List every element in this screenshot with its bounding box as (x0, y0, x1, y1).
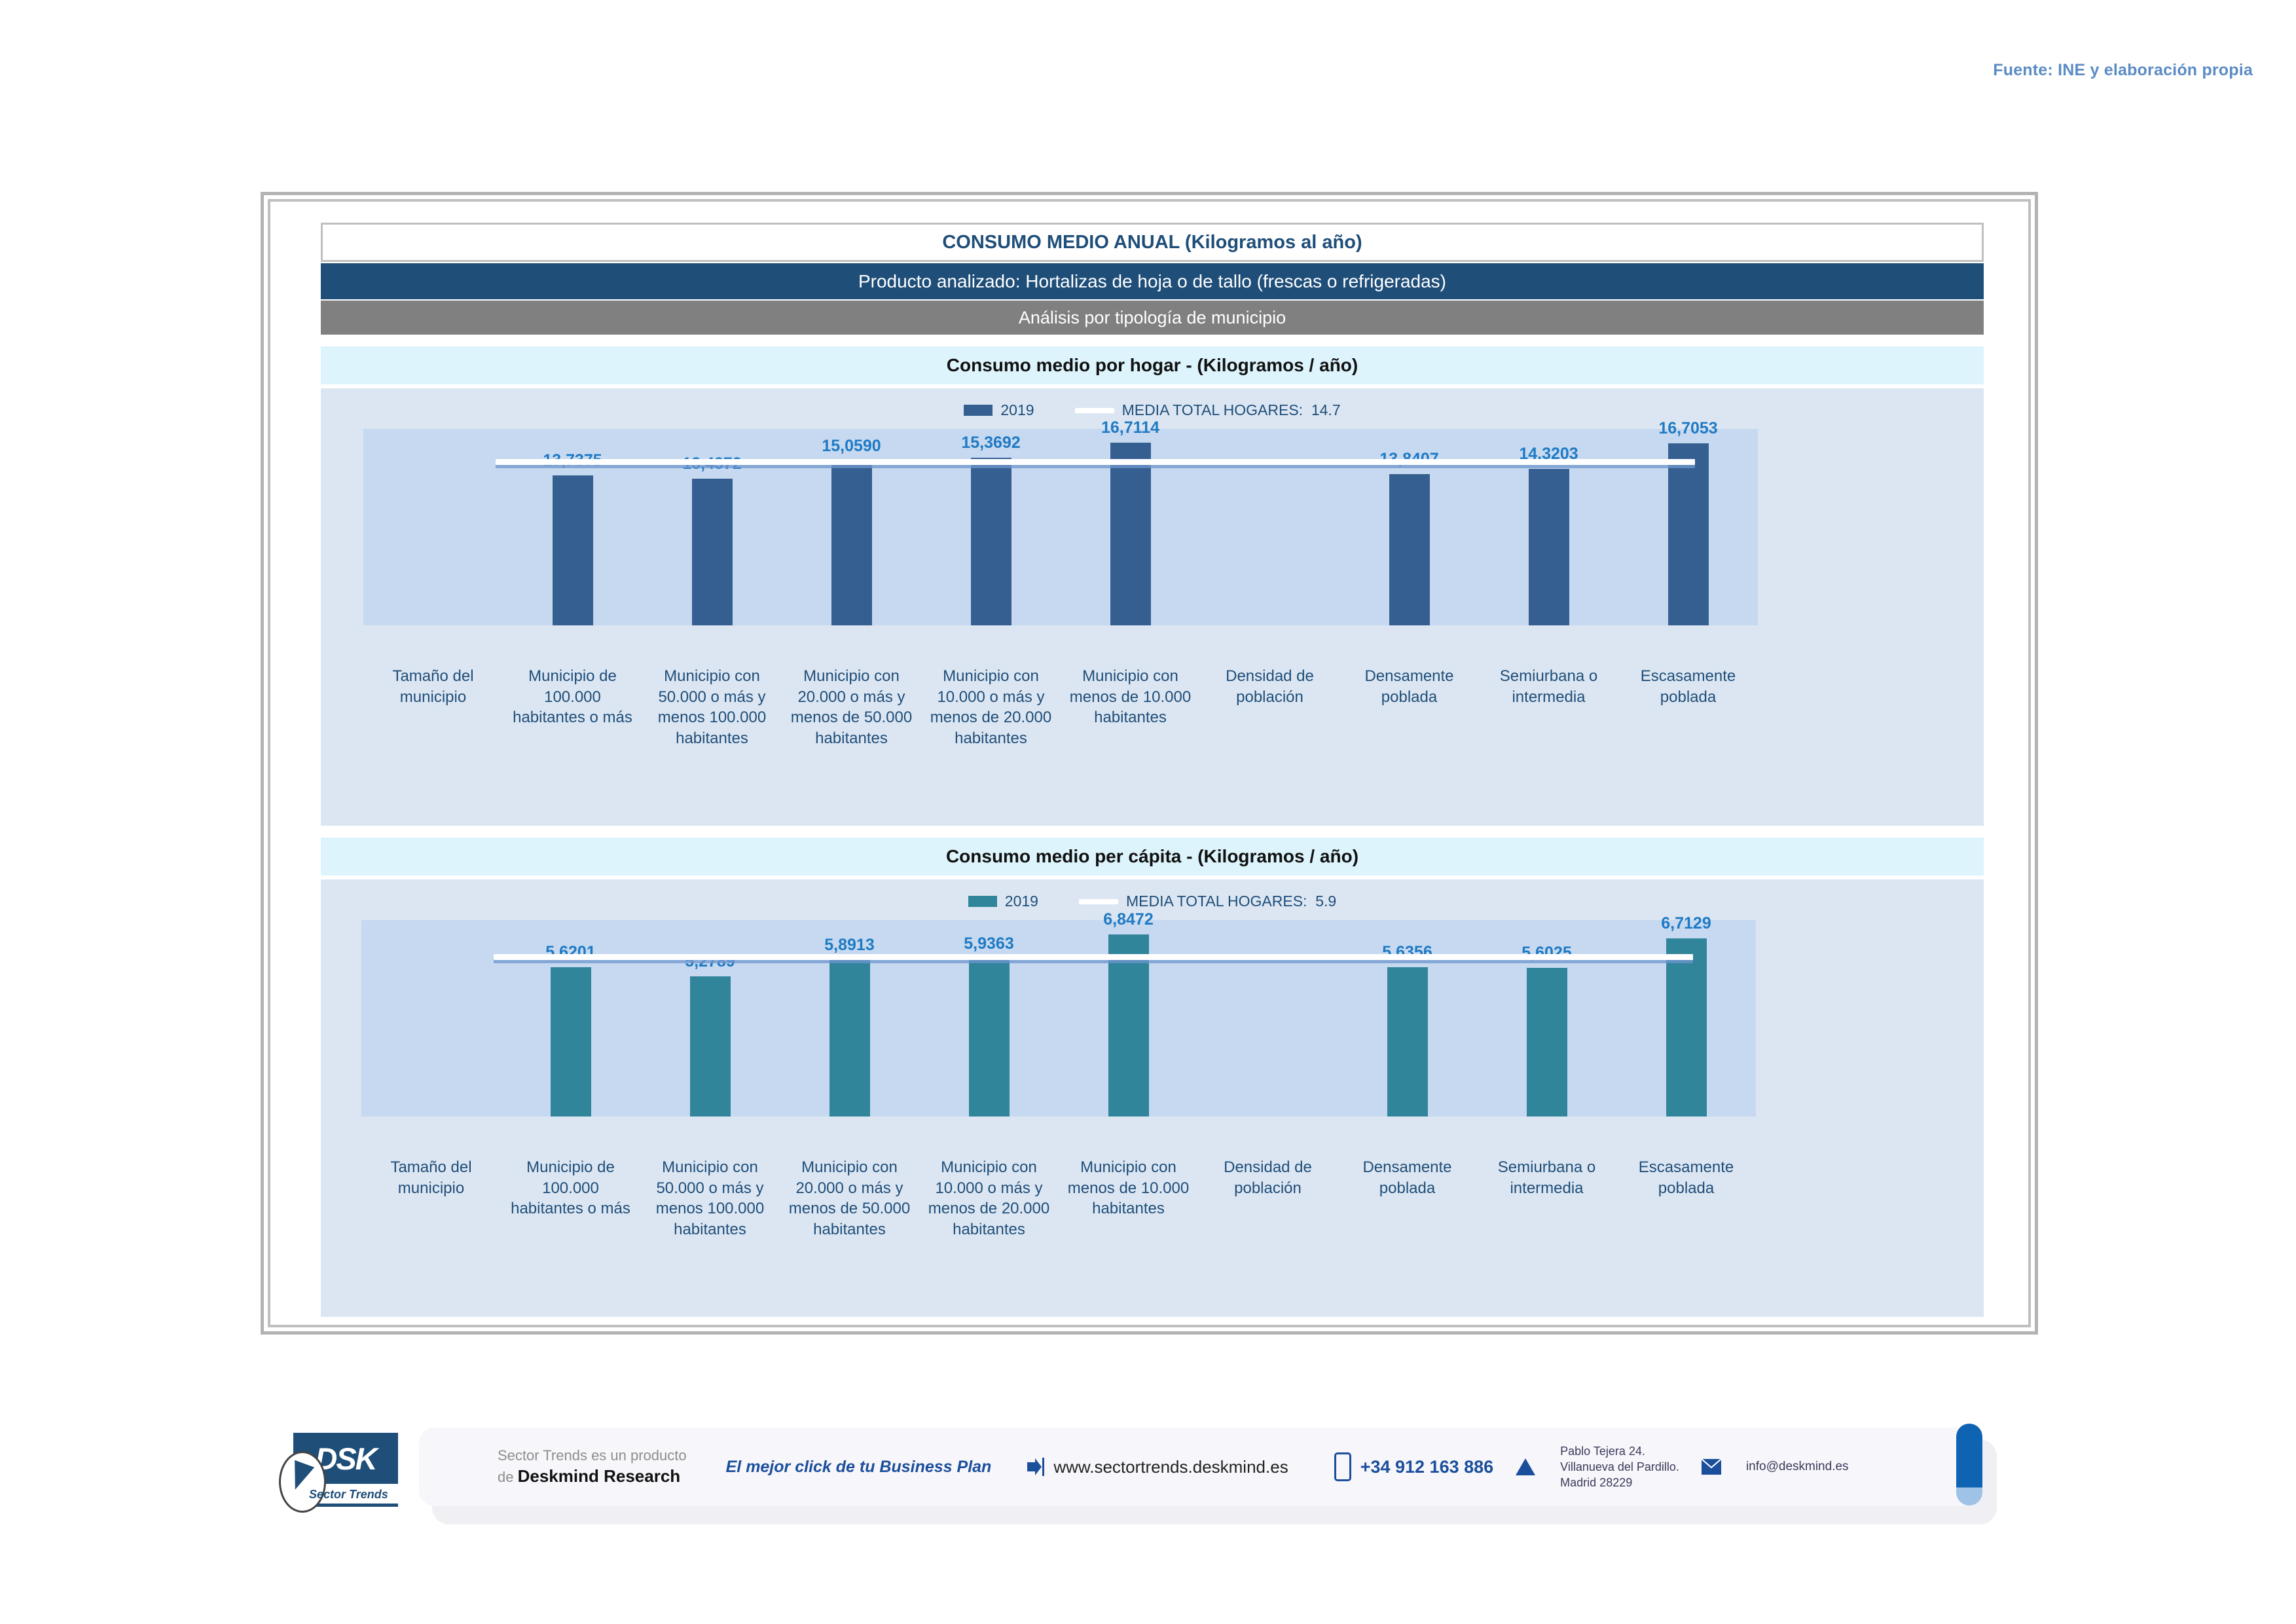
x-axis-label-line: menos de 10.000 (1061, 1178, 1195, 1199)
footer-address-text: Pablo Tejera 24. Villanueva del Pardillo… (1560, 1443, 1679, 1491)
bar: 15,0590 (831, 461, 872, 625)
x-axis-label-line: poblada (1342, 687, 1476, 708)
x-axis-label-line: Municipio con (922, 1157, 1056, 1178)
bar-cell: 15,0590 (782, 429, 921, 625)
x-axis-label-line: menos de 10.000 (1063, 687, 1197, 708)
x-axis-label-line: Densamente (1340, 1157, 1474, 1178)
legend-item-series: 2019 (968, 893, 1038, 910)
bar-cell: 13,7375 (503, 429, 642, 625)
bar-cell (1200, 429, 1339, 625)
x-axis-label: Municipio con50.000 o más ymenos 100.000… (642, 666, 782, 749)
x-axis-label-line: menos de 50.000 (784, 707, 919, 728)
bar-cell: 5,9363 (919, 920, 1059, 1116)
legend-label-mean: MEDIA TOTAL HOGARES: 5.9 (1126, 893, 1336, 910)
bar: 16,7053 (1668, 443, 1709, 625)
footer-claim: El mejor click de tu Business Plan (726, 1458, 992, 1477)
x-axis-label-line: Municipio con (784, 666, 919, 687)
legend-label-2019: 2019 (1000, 401, 1034, 419)
x-axis-label: Municipio con10.000 o más ymenos de 20.0… (919, 1157, 1059, 1240)
bar-value-label: 15,0590 (822, 437, 881, 456)
logo-subtitle: Sector Trends (309, 1488, 388, 1502)
x-axis-label-line: 100.000 (503, 1178, 638, 1199)
x-axis-label: Semiurbana ointermedia (1477, 1157, 1616, 1240)
x-axis-label: Densidad depoblación (1200, 666, 1339, 749)
x-axis-label: Tamaño delmunicipio (363, 666, 503, 749)
x-axis-label: Escasamentepoblada (1616, 1157, 1756, 1240)
x-axis-label-line: Municipio con (1061, 1157, 1195, 1178)
footer-accent-bar (1956, 1424, 1982, 1505)
x-axis-label: Municipio conmenos de 10.000habitantes (1061, 666, 1200, 749)
footer-card: DSK Sector Trends Sector Trends es un pr… (419, 1428, 1977, 1506)
legend-swatch-2019 (968, 896, 997, 907)
legend-item-series: 2019 (964, 401, 1034, 419)
x-axis-label-line: Tamaño del (366, 666, 500, 687)
bar: 5,9363 (969, 959, 1010, 1116)
bar: 15,3692 (971, 458, 1011, 625)
x-axis-label: Semiurbana ointermedia (1479, 666, 1618, 749)
x-axis-label-line: habitantes (643, 1219, 777, 1240)
bar: 5,6356 (1387, 967, 1428, 1116)
bar-cell: 5,8913 (780, 920, 919, 1116)
analysis-bar: Análisis por tipología de municipio (321, 301, 1984, 335)
x-axis-label-line: Municipio con (924, 666, 1058, 687)
mail-icon (1702, 1459, 1721, 1475)
chart-hogar-plot: 13,737513,437215,059015,369216,711413,84… (363, 429, 1758, 625)
legend-item-mean: MEDIA TOTAL HOGARES: 14.7 (1075, 401, 1341, 419)
x-axis-label-line: 10.000 o más y (924, 687, 1058, 708)
chart-capita-bars: 5,62015,27895,89135,93636,84725,63565,60… (361, 920, 1756, 1116)
x-axis-label-line: habitantes (645, 728, 779, 749)
x-axis-label-line: habitantes (1063, 707, 1197, 728)
bar-cell: 6,7129 (1616, 920, 1756, 1116)
bar-value-label: 16,7053 (1658, 419, 1717, 438)
x-axis-label-line: poblada (1619, 1178, 1753, 1199)
address-line-3: Madrid 28229 (1560, 1475, 1679, 1490)
x-axis-label-line: 20.000 o más y (782, 1178, 917, 1199)
x-axis-label: Municipio de100.000habitantes o más (501, 1157, 640, 1240)
footer: DSK Sector Trends Sector Trends es un pr… (419, 1428, 1990, 1514)
x-axis-label-line: habitantes (922, 1219, 1056, 1240)
x-axis-label: Densidad depoblación (1198, 1157, 1338, 1240)
footer-phone[interactable]: +34 912 163 886 (1334, 1452, 1493, 1481)
footer-product-brand: Deskmind Research (518, 1466, 681, 1486)
x-axis-label-line: Densamente (1342, 666, 1476, 687)
x-axis-label-line: menos de 20.000 (924, 707, 1058, 728)
x-axis-label-line: municipio (364, 1178, 498, 1199)
bar-cell: 14,3203 (1479, 429, 1618, 625)
x-axis-label-line: Semiurbana o (1482, 666, 1616, 687)
chart-hogar-bars: 13,737513,437215,059015,369216,711413,84… (363, 429, 1758, 625)
footer-product-line2: de Deskmind Research (498, 1465, 687, 1488)
x-axis-label-line: Municipio de (503, 1157, 638, 1178)
x-axis-label-line: Densidad de (1201, 1157, 1335, 1178)
bar-cell: 13,4372 (642, 429, 782, 625)
x-axis-label-line: Semiurbana o (1480, 1157, 1614, 1178)
bar-value-label: 6,8472 (1103, 910, 1153, 929)
x-axis-label: Escasamentepoblada (1618, 666, 1758, 749)
legend-item-mean: MEDIA TOTAL HOGARES: 5.9 (1079, 893, 1336, 910)
x-axis-label-line: 100.000 (505, 687, 640, 708)
x-axis-label: Municipio con20.000 o más ymenos de 50.0… (782, 666, 921, 749)
x-axis-label: Municipio de100.000habitantes o más (503, 666, 642, 749)
bar: 6,7129 (1666, 938, 1707, 1116)
x-axis-label-line: habitantes o más (503, 1198, 638, 1219)
source-note: Fuente: INE y elaboración propia (1993, 61, 2253, 80)
bar: 13,8407 (1389, 474, 1430, 625)
x-axis-label-line: población (1203, 687, 1337, 708)
mean-label-text: MEDIA TOTAL HOGARES: (1126, 893, 1307, 910)
x-axis-label: Densamentepoblada (1339, 666, 1479, 749)
footer-product-note: Sector Trends es un producto de Deskmind… (498, 1446, 687, 1488)
bar-cell: 16,7114 (1061, 429, 1200, 625)
x-axis-label-line: municipio (366, 687, 500, 708)
x-axis-label-line: 50.000 o más y (645, 687, 779, 708)
x-axis-label: Tamaño delmunicipio (361, 1157, 501, 1240)
x-axis-label-line: habitantes (784, 728, 919, 749)
x-axis-label: Municipio con10.000 o más ymenos de 20.0… (921, 666, 1061, 749)
x-axis-label-line: habitantes o más (505, 707, 640, 728)
x-axis-label: Municipio con20.000 o más ymenos de 50.0… (780, 1157, 919, 1240)
chart-hogar-legend: 2019 MEDIA TOTAL HOGARES: 14.7 (321, 401, 1984, 419)
mean-value-text: 5.9 (1315, 893, 1336, 910)
x-axis-label-line: poblada (1621, 687, 1755, 708)
x-axis-label: Densamentepoblada (1338, 1157, 1477, 1240)
bar-cell: 5,6025 (1477, 920, 1616, 1116)
report-panel: CONSUMO MEDIO ANUAL (Kilogramos al año) … (321, 223, 1984, 1303)
chart-capita-plot: 5,62015,27895,89135,93636,84725,63565,60… (361, 920, 1756, 1116)
x-axis-label-line: 20.000 o más y (784, 687, 919, 708)
bar-value-label: 15,3692 (961, 434, 1020, 452)
bar-value-label: 16,7114 (1101, 418, 1159, 437)
x-axis-label-line: Municipio con (645, 666, 779, 687)
x-axis-label-line: poblada (1340, 1178, 1474, 1199)
x-axis-label-line: habitantes (782, 1219, 917, 1240)
section-header-capita: Consumo medio per cápita - (Kilogramos /… (321, 838, 1984, 876)
chart-capita: 2019 MEDIA TOTAL HOGARES: 5.9 5,62015,27… (321, 879, 1984, 1317)
footer-address: Pablo Tejera 24. Villanueva del Pardillo… (1516, 1443, 1679, 1491)
legend-label-mean: MEDIA TOTAL HOGARES: 14.7 (1122, 401, 1341, 419)
bar-cell: 13,8407 (1339, 429, 1479, 625)
bar-value-label: 5,9363 (964, 934, 1013, 953)
footer-website-text: www.sectortrends.deskmind.es (1053, 1457, 1288, 1477)
bar-cell: 15,3692 (921, 429, 1061, 625)
bar: 13,4372 (692, 479, 733, 625)
address-line-1: Pablo Tejera 24. (1560, 1443, 1679, 1459)
bar-value-label: 6,7129 (1661, 914, 1711, 933)
bar: 5,6025 (1527, 968, 1567, 1116)
x-axis-label-line: habitantes (1061, 1198, 1195, 1219)
bar-cell: 5,2789 (640, 920, 780, 1116)
panel-title: CONSUMO MEDIO ANUAL (Kilogramos al año) (321, 223, 1984, 262)
product-bar: Producto analizado: Hortalizas de hoja o… (321, 263, 1984, 299)
x-axis-label-line: menos de 20.000 (922, 1198, 1056, 1219)
x-axis-label-line: 10.000 o más y (922, 1178, 1056, 1199)
x-axis-label-line: Escasamente (1619, 1157, 1753, 1178)
bar-value-label: 5,8913 (824, 936, 874, 955)
x-axis-label-line: Escasamente (1621, 666, 1755, 687)
footer-email-text: info@deskmind.es (1746, 1460, 1849, 1474)
bar: 13,7375 (553, 475, 593, 625)
dsk-logo: DSK Sector Trends (275, 1422, 419, 1514)
bar-cell (361, 920, 501, 1116)
x-axis-label-line: menos 100.000 (643, 1198, 777, 1219)
bar-cell: 16,7053 (1618, 429, 1758, 625)
x-axis-label-line: habitantes (924, 728, 1058, 749)
x-axis-label-line: Municipio de (505, 666, 640, 687)
x-axis-label-line: Municipio con (1063, 666, 1197, 687)
mean-label-text: MEDIA TOTAL HOGARES: (1122, 401, 1303, 418)
home-icon (1516, 1458, 1535, 1475)
x-axis-label-line: Municipio con (643, 1157, 777, 1178)
footer-product-prefix: de (498, 1469, 518, 1485)
chart-hogar-xaxis: Tamaño delmunicipioMunicipio de100.000ha… (363, 666, 1758, 749)
bar: 5,8913 (829, 960, 870, 1116)
phone-icon (1334, 1452, 1351, 1481)
section-header-hogar: Consumo medio por hogar - (Kilogramos / … (321, 346, 1984, 384)
bar: 5,2789 (690, 976, 731, 1116)
address-line-2: Villanueva del Pardillo. (1560, 1459, 1679, 1475)
chart-hogar-mean-line (496, 459, 1695, 465)
legend-line-mean (1079, 899, 1118, 904)
x-axis-label: Municipio con50.000 o más ymenos 100.000… (640, 1157, 780, 1240)
x-axis-label-line: Densidad de (1203, 666, 1337, 687)
bar: 14,3203 (1529, 469, 1569, 625)
bar: 5,6201 (551, 967, 591, 1116)
x-axis-label-line: menos de 50.000 (782, 1198, 917, 1219)
footer-website[interactable]: www.sectortrends.deskmind.es (1027, 1457, 1288, 1477)
bar: 16,7114 (1110, 443, 1151, 625)
x-axis-label-line: Tamaño del (364, 1157, 498, 1178)
bar-cell (363, 429, 503, 625)
legend-swatch-2019 (964, 405, 993, 416)
legend-line-mean (1075, 408, 1114, 413)
legend-label-2019: 2019 (1005, 893, 1038, 910)
x-axis-label-line: Municipio con (782, 1157, 917, 1178)
chart-hogar: 2019 MEDIA TOTAL HOGARES: 14.7 13,737513… (321, 388, 1984, 826)
footer-email[interactable]: info@deskmind.es (1702, 1459, 1849, 1475)
x-axis-label-line: intermedia (1480, 1178, 1614, 1199)
bar-cell: 5,6356 (1338, 920, 1477, 1116)
x-axis-label-line: 50.000 o más y (643, 1178, 777, 1199)
bar-cell: 6,8472 (1059, 920, 1198, 1116)
bar-cell (1198, 920, 1338, 1116)
mean-value-text: 14.7 (1311, 401, 1341, 418)
chart-capita-xaxis: Tamaño delmunicipioMunicipio de100.000ha… (361, 1157, 1756, 1240)
footer-phone-text: +34 912 163 886 (1360, 1457, 1493, 1477)
x-axis-label-line: población (1201, 1178, 1335, 1199)
footer-product-line1: Sector Trends es un producto (498, 1446, 687, 1466)
x-axis-label-line: intermedia (1482, 687, 1616, 708)
web-arrow-icon (1027, 1457, 1044, 1477)
x-axis-label: Municipio conmenos de 10.000habitantes (1059, 1157, 1198, 1240)
chart-capita-mean-line (494, 954, 1693, 960)
bar-cell: 5,6201 (501, 920, 640, 1116)
x-axis-label-line: menos 100.000 (645, 707, 779, 728)
chart-capita-legend: 2019 MEDIA TOTAL HOGARES: 5.9 (321, 893, 1984, 910)
bar: 6,8472 (1108, 934, 1149, 1116)
